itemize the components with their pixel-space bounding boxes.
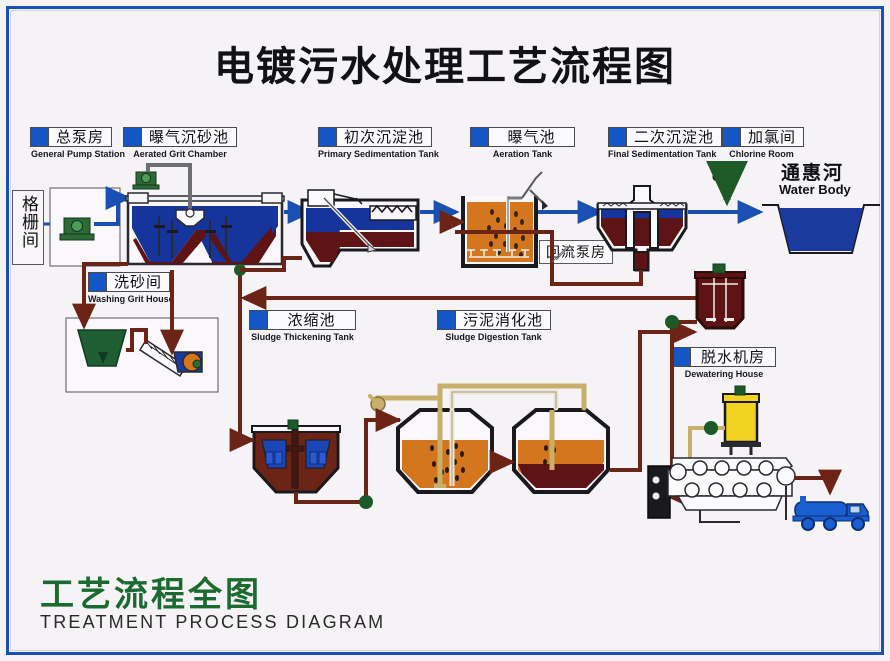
polymer-dosing-tank [721,386,761,455]
grit-blower-icon [133,172,159,189]
tanker-truck [793,496,869,530]
general-pump-station-building [50,188,120,266]
washing-grit-house [66,310,218,392]
primary-sedimentation-tank [302,190,418,266]
sludge-digestion-tank-2 [514,410,608,492]
belt-filter-press [648,458,795,522]
water-body-channel [762,205,880,253]
aeration-tank [463,172,548,266]
digested-sludge-to-storage [610,332,660,470]
cake-discharge-arrow [794,478,830,492]
pump-icon [60,218,94,240]
junction-node [359,495,373,509]
junction-node [704,421,718,435]
final-sedimentation-tank [598,186,686,270]
sludge-digestion-tank-1 [398,410,492,492]
sludge-thickening-tank [240,420,340,492]
junction-node [665,315,679,329]
sludge-storage-tank [695,264,745,328]
diagram-canvas: 电镀污水处理工艺流程图 总泵房 General Pump Station 曝气沉… [0,0,890,661]
aerated-grit-chamber [126,165,284,264]
process-flow-artwork [0,0,890,661]
